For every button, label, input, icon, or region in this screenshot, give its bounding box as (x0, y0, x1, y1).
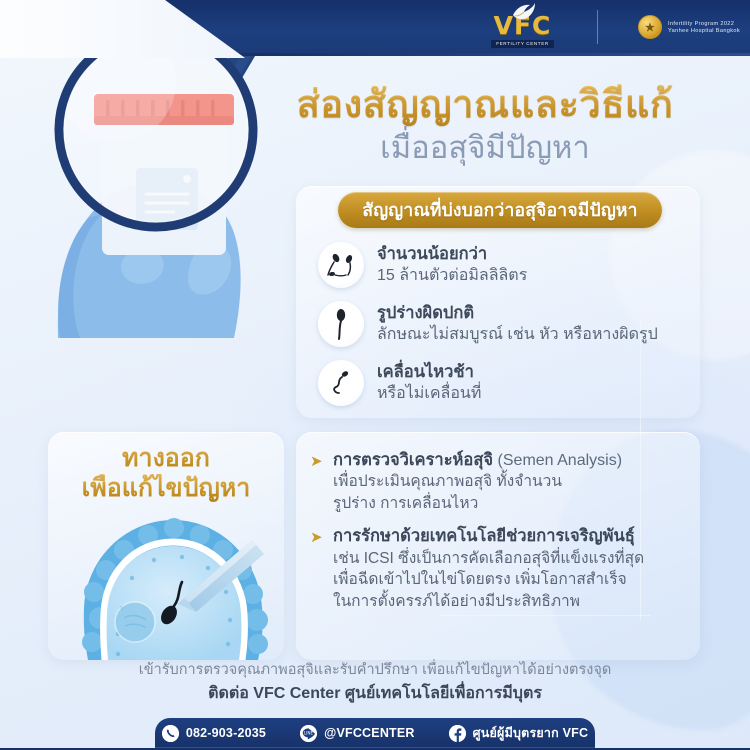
dove-icon (511, 2, 537, 22)
list-item: รูปร่างผิดปกติ ลักษณะไม่สมบูรณ์ เช่น หัว… (318, 301, 698, 347)
phone-icon (162, 725, 179, 742)
sign-desc: 15 ล้านตัวต่อมิลลิลิตร (377, 266, 527, 287)
low-sperm-count-icon (318, 242, 364, 288)
list-item: เคลื่อนไหวช้า หรือไม่เคลื่อนที่ (318, 360, 698, 406)
sign-title: เคลื่อนไหวช้า (377, 362, 481, 383)
solution-body-line: เพื่อประเมินคุณภาพอสุจิ ทั้งจำนวน (333, 472, 622, 492)
line-icon: LINE (300, 725, 317, 742)
badge-line-1: Infertility Program 2022 (668, 21, 740, 27)
solution-title-en: (Semen Analysis) (498, 452, 623, 469)
icsi-egg-injection-illustration (56, 512, 290, 660)
solution-body-line: เช่น ICSI ซึ่งเป็นการคัดเลือกอสุจิที่แข็… (333, 549, 644, 569)
signs-banner-label: สัญญาณที่บ่งบอกว่าอสุจิอาจมีปัญหา (362, 196, 637, 224)
sign-desc: ลักษณะไม่สมบูรณ์ เช่น หัว หรือหางผิดรูป (377, 325, 658, 346)
contact-facebook[interactable]: ศูนย์ผู้มีบุตรยาก VFC (449, 723, 589, 743)
infographic-canvas: VFC FERTILITY CENTER ★ Infertility Progr… (0, 0, 750, 750)
solution-title: การตรวจวิเคราะห์อสุจิ (333, 451, 493, 469)
badge-line-2: Yanhee Hospital Bangkok (668, 28, 740, 34)
footer-note-line2: ติดต่อ VFC Center ศูนย์เทคโนโลยีเพื่อการ… (0, 682, 750, 706)
solution-card-title-line2: เพื่อแก้ไขปัญหา (48, 474, 284, 504)
solution-card-title-line1: ทางออก (48, 444, 284, 474)
list-item: ➤ การตรวจวิเคราะห์อสุจิ (Semen Analysis)… (310, 450, 702, 514)
contact-bar: 082-903-2035 LINE @VFCCENTER ศูนย์ผู้มีบ… (155, 718, 595, 748)
signs-list: จำนวนน้อยกว่า 15 ล้านตัวต่อมิลลิลิตร รูป… (318, 242, 698, 419)
contact-facebook-label: ศูนย์ผู้มีบุตรยาก VFC (473, 723, 589, 743)
headline-block: ส่องสัญญาณและวิธีแก้ เมื่ออสุจิมีปัญหา (250, 84, 720, 166)
signs-banner: สัญญาณที่บ่งบอกว่าอสุจิอาจมีปัญหา (338, 192, 662, 228)
solution-body-line: ในการตั้งครรภ์ได้อย่างมีประสิทธิภาพ (333, 592, 644, 612)
contact-line[interactable]: LINE @VFCCENTER (300, 725, 415, 742)
contact-phone[interactable]: 082-903-2035 (162, 725, 266, 742)
contact-line-label: @VFCCENTER (324, 726, 415, 740)
solution-body-line: รูปร่าง การเคลื่อนไหว (333, 494, 622, 514)
list-item: จำนวนน้อยกว่า 15 ล้านตัวต่อมิลลิลิตร (318, 242, 698, 288)
solution-body-line: เพื่อฉีดเข้าไปในไข่โดยตรง เพิ่มโอกาสสำเร… (333, 570, 644, 590)
sign-title: จำนวนน้อยกว่า (377, 244, 527, 265)
abnormal-morphology-icon (318, 301, 364, 347)
facebook-icon (449, 725, 466, 742)
contact-phone-label: 082-903-2035 (186, 726, 266, 740)
page-title: ส่องสัญญาณและวิธีแก้ (250, 84, 720, 127)
program-badge: ★ Infertility Program 2022 Yanhee Hospit… (638, 12, 740, 42)
svg-text:LINE: LINE (304, 730, 314, 735)
vfc-logo: VFC FERTILITY CENTER (465, 4, 580, 52)
medal-icon: ★ (638, 15, 662, 39)
footer-note-line1: เข้ารับการตรวจคุณภาพอสุจิและรับคำปรึกษา … (0, 660, 750, 682)
solution-card-title: ทางออก เพื่อแก้ไขปัญหา (48, 444, 284, 503)
solution-title: การรักษาด้วยเทคโนโลยีช่วยการเจริญพันธุ์ (333, 527, 635, 545)
arrow-right-icon: ➤ (310, 530, 324, 544)
list-item: ➤ การรักษาด้วยเทคโนโลยีช่วยการเจริญพันธุ… (310, 526, 702, 612)
sign-title: รูปร่างผิดปกติ (377, 303, 658, 324)
footer-note: เข้ารับการตรวจคุณภาพอสุจิและรับคำปรึกษา … (0, 660, 750, 706)
slow-motility-icon (318, 360, 364, 406)
page-subtitle: เมื่ออสุจิมีปัญหา (250, 129, 720, 166)
arrow-right-icon: ➤ (310, 454, 324, 468)
header-divider (597, 10, 598, 44)
logo-tagline: FERTILITY CENTER (491, 40, 554, 48)
sign-desc: หรือไม่เคลื่อนที่ (377, 384, 481, 405)
solutions-list: ➤ การตรวจวิเคราะห์อสุจิ (Semen Analysis)… (310, 450, 702, 624)
